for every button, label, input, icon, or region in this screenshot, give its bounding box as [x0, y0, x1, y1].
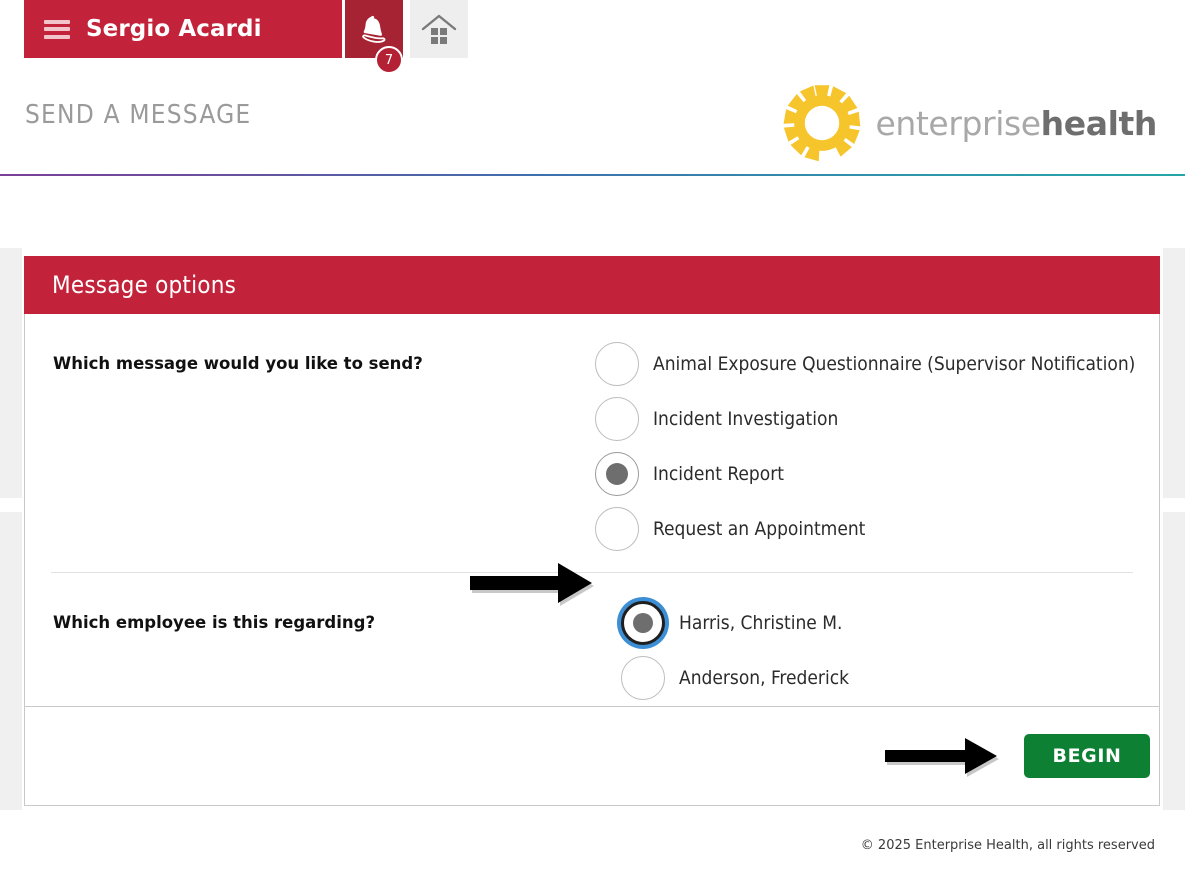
- copyright-text: © 2025 Enterprise Health, all rights res…: [861, 838, 1155, 853]
- home-button[interactable]: [410, 0, 468, 58]
- message-options-card: Message options Which message would you …: [24, 256, 1160, 722]
- radio-option-incident-investigation[interactable]: Incident Investigation: [595, 391, 1159, 446]
- hamburger-menu-icon[interactable]: [44, 20, 70, 39]
- header-divider: [0, 174, 1185, 176]
- question-block-message-type: Which message would you like to send? An…: [25, 314, 1159, 572]
- radio-option-harris-christine[interactable]: Harris, Christine M.: [621, 595, 1133, 650]
- question-block-employee: Which employee is this regarding? Harris…: [51, 572, 1133, 721]
- background-panel-right-lower: [1163, 512, 1185, 810]
- page-title: SEND A MESSAGE: [25, 100, 251, 130]
- enterprise-health-logo: enterprisehealth: [781, 82, 1157, 164]
- logo-text-enterprise: enterprise: [875, 104, 1040, 143]
- radio-button-icon[interactable]: [595, 342, 639, 386]
- radio-option-label: Harris, Christine M.: [679, 612, 842, 634]
- radio-button-selected-icon[interactable]: [595, 452, 639, 496]
- radio-option-label: Incident Report: [653, 463, 784, 485]
- radio-button-icon[interactable]: [595, 507, 639, 551]
- radio-option-request-an-appointment[interactable]: Request an Appointment: [595, 501, 1159, 556]
- radio-option-label: Anderson, Frederick: [679, 667, 849, 689]
- home-icon: [420, 12, 458, 46]
- question-label-message-type: Which message would you like to send?: [25, 336, 595, 556]
- question-label-employee: Which employee is this regarding?: [51, 595, 621, 705]
- radio-group-employee: Harris, Christine M. Anderson, Frederick: [621, 595, 1133, 705]
- logo-wordmark: enterprisehealth: [875, 104, 1157, 143]
- background-panel-left-lower: [0, 512, 22, 810]
- card-header: Message options: [24, 256, 1160, 314]
- radio-option-label: Incident Investigation: [653, 408, 838, 430]
- card-body: Which message would you like to send? An…: [24, 314, 1160, 722]
- top-navigation-bar: Sergio Acardi 7: [0, 0, 1185, 58]
- card-title: Message options: [52, 271, 236, 299]
- background-panel-left-upper: [0, 248, 22, 498]
- radio-option-label: Request an Appointment: [653, 518, 865, 540]
- user-menu-button[interactable]: Sergio Acardi: [24, 0, 342, 58]
- logo-text-health: health: [1041, 104, 1157, 143]
- username-label: Sergio Acardi: [86, 16, 262, 42]
- sunburst-ring-icon: [781, 82, 863, 164]
- radio-button-icon[interactable]: [595, 397, 639, 441]
- radio-option-anderson-frederick[interactable]: Anderson, Frederick: [621, 650, 1133, 705]
- radio-option-incident-report[interactable]: Incident Report: [595, 446, 1159, 501]
- radio-group-message-type: Animal Exposure Questionnaire (Superviso…: [595, 336, 1159, 556]
- radio-option-label: Animal Exposure Questionnaire (Superviso…: [653, 353, 1135, 375]
- card-action-bar: BEGIN: [24, 706, 1160, 806]
- radio-button-selected-focused-icon[interactable]: [621, 601, 665, 645]
- begin-button[interactable]: BEGIN: [1024, 734, 1150, 778]
- notification-count-badge: 7: [375, 46, 403, 74]
- notification-bell-icon: [357, 12, 391, 46]
- background-panel-right-upper: [1163, 248, 1185, 498]
- radio-button-icon[interactable]: [621, 656, 665, 700]
- radio-option-animal-exposure-questionnaire[interactable]: Animal Exposure Questionnaire (Superviso…: [595, 336, 1159, 391]
